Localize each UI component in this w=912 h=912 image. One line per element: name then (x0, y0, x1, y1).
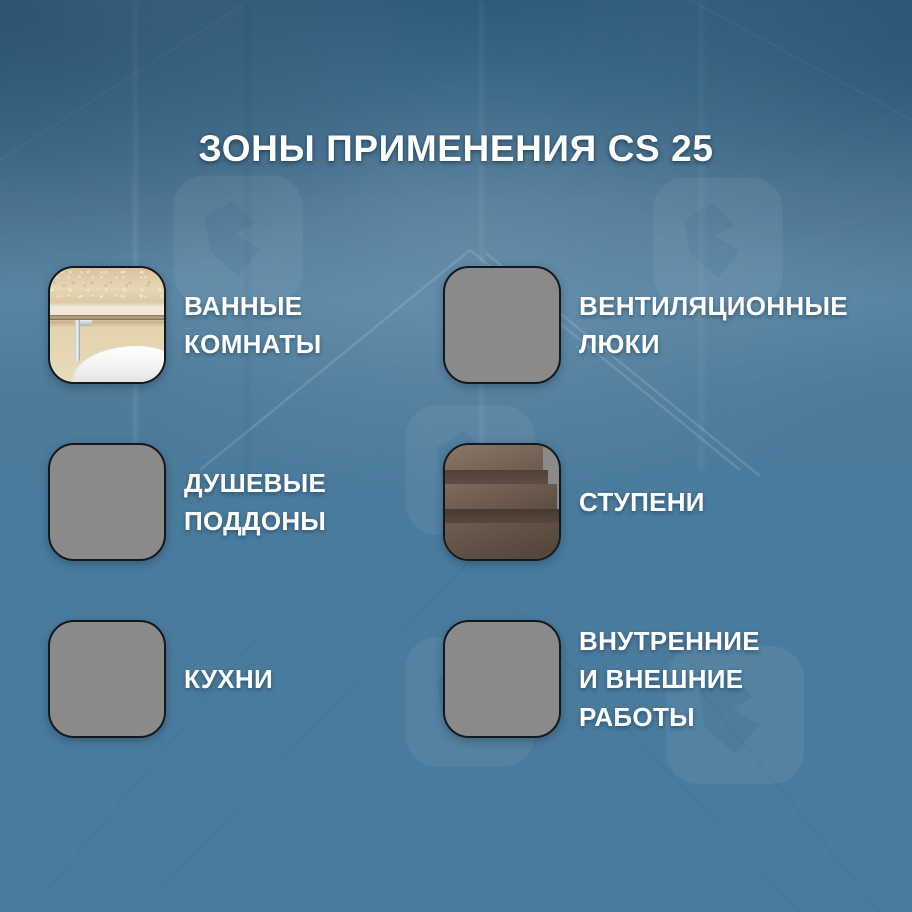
kitchen-photo (48, 620, 166, 738)
bathroom-photo (48, 266, 166, 384)
zone-item-kitchens[interactable]: КУХНИ (48, 620, 273, 738)
stairs-photo (443, 443, 561, 561)
zone-item-stairs[interactable]: СТУПЕНИ (443, 443, 705, 561)
shower-tray-photo (48, 443, 166, 561)
zone-item-label: ВАННЫЕ КОМНАТЫ (184, 287, 321, 363)
zone-item-interior-exterior-works[interactable]: ВНУТРЕННИЕ И ВНЕШНИЕ РАБОТЫ (443, 620, 760, 738)
zone-item-label: СТУПЕНИ (579, 483, 705, 521)
zone-item-ventilation-hatches[interactable]: ВЕНТИЛЯЦИОННЫЕ ЛЮКИ (443, 266, 848, 384)
zone-item-bathrooms[interactable]: ВАННЫЕ КОМНАТЫ (48, 266, 321, 384)
zone-item-label: КУХНИ (184, 660, 273, 698)
zone-item-shower-trays[interactable]: ДУШЕВЫЕ ПОДДОНЫ (48, 443, 326, 561)
zone-item-label: ДУШЕВЫЕ ПОДДОНЫ (184, 464, 326, 540)
zone-item-label: ВЕНТИЛЯЦИОННЫЕ ЛЮКИ (579, 287, 848, 363)
zone-item-label: ВНУТРЕННИЕ И ВНЕШНИЕ РАБОТЫ (579, 622, 760, 736)
exterior-interior-works-photo (443, 620, 561, 738)
ventilation-hatch-photo (443, 266, 561, 384)
application-zones-grid: ВАННЫЕ КОМНАТЫ ВЕНТИЛЯЦИОННЫЕ ЛЮКИ (0, 0, 912, 912)
poster-canvas: ЗОНЫ ПРИМЕНЕНИЯ CS 25 ВАННЫЕ КОМНАТЫ (0, 0, 912, 912)
